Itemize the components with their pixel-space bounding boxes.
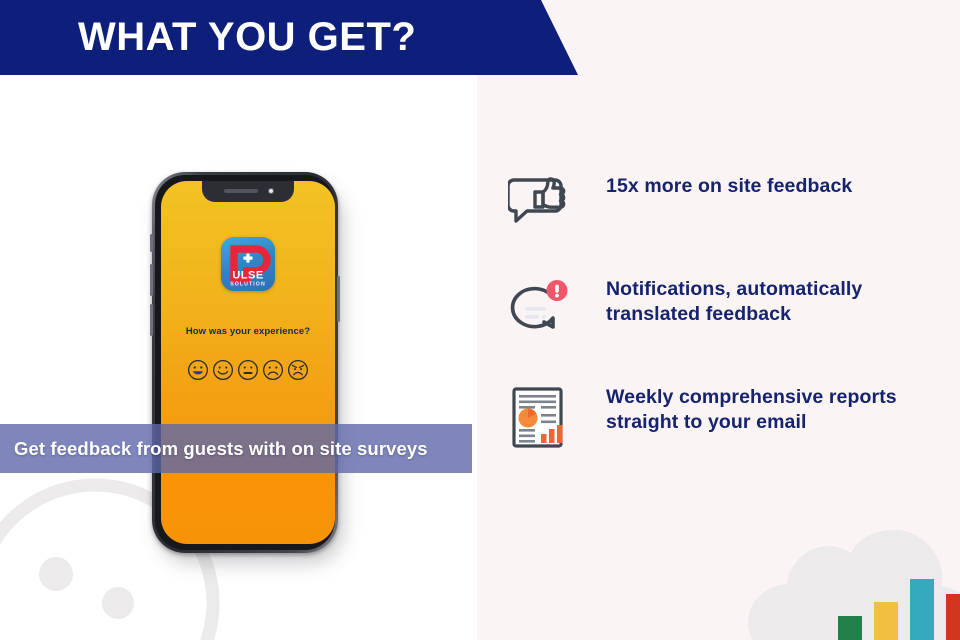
bar-chart-decoration (838, 560, 960, 640)
svg-text:SOLUTION: SOLUTION (230, 282, 266, 288)
feature-item-reports: Weekly comprehensive reports straight to… (508, 384, 958, 456)
pulse-solution-logo: ULSE SOLUTION (221, 237, 275, 291)
rating-emoji-row (161, 359, 335, 381)
phone-mockup: ULSE SOLUTION How was your experience? (152, 172, 344, 557)
volume-up-button (150, 264, 153, 296)
neutral-face[interactable] (237, 359, 259, 381)
feature-item-notifications: Notifications, automatically translated … (508, 276, 958, 348)
page-title: WHAT YOU GET? (78, 11, 416, 63)
feature-label-line-1: Notifications, automatically (606, 278, 862, 300)
front-camera-icon (268, 188, 274, 194)
feature-label-line-2: straight to your email (606, 411, 807, 433)
survey-question: How was your experience? (161, 326, 335, 337)
thumbs-up-speech-bubble-icon (508, 166, 574, 232)
bar-3 (910, 579, 934, 640)
bar-2 (874, 602, 898, 640)
phone-frame: ULSE SOLUTION How was your experience? (152, 172, 338, 553)
phone-notch (202, 181, 294, 202)
angry-face[interactable] (287, 359, 309, 381)
sad-face[interactable] (262, 359, 284, 381)
power-button (337, 276, 340, 322)
volume-down-button (150, 304, 153, 336)
slide-canvas: WHAT YOU GET? (0, 0, 960, 640)
chat-notification-badge-icon (508, 276, 574, 342)
feature-label: Notifications, automatically translated … (574, 276, 958, 327)
feature-list: 15x more on site feedback Notificatio (508, 160, 958, 456)
happy-face[interactable] (212, 359, 234, 381)
feature-label: Weekly comprehensive reports straight to… (574, 384, 958, 435)
very-happy-face[interactable] (187, 359, 209, 381)
phone-bezel: ULSE SOLUTION How was your experience? (155, 175, 335, 550)
feature-label-line-1: Weekly comprehensive reports (606, 386, 897, 408)
caption-text: Get feedback from guests with on site su… (14, 424, 472, 473)
mute-switch (150, 234, 153, 252)
bar-1 (838, 616, 862, 640)
earpiece-speaker-icon (224, 189, 258, 193)
feature-label-line-2: translated feedback (606, 303, 791, 325)
bar-4 (946, 594, 960, 640)
phone-screen: ULSE SOLUTION How was your experience? (161, 181, 335, 544)
report-document-chart-icon (508, 384, 574, 450)
feature-item-feedback: 15x more on site feedback (508, 166, 958, 238)
feature-label: 15x more on site feedback (574, 166, 958, 199)
svg-text:ULSE: ULSE (232, 270, 263, 282)
